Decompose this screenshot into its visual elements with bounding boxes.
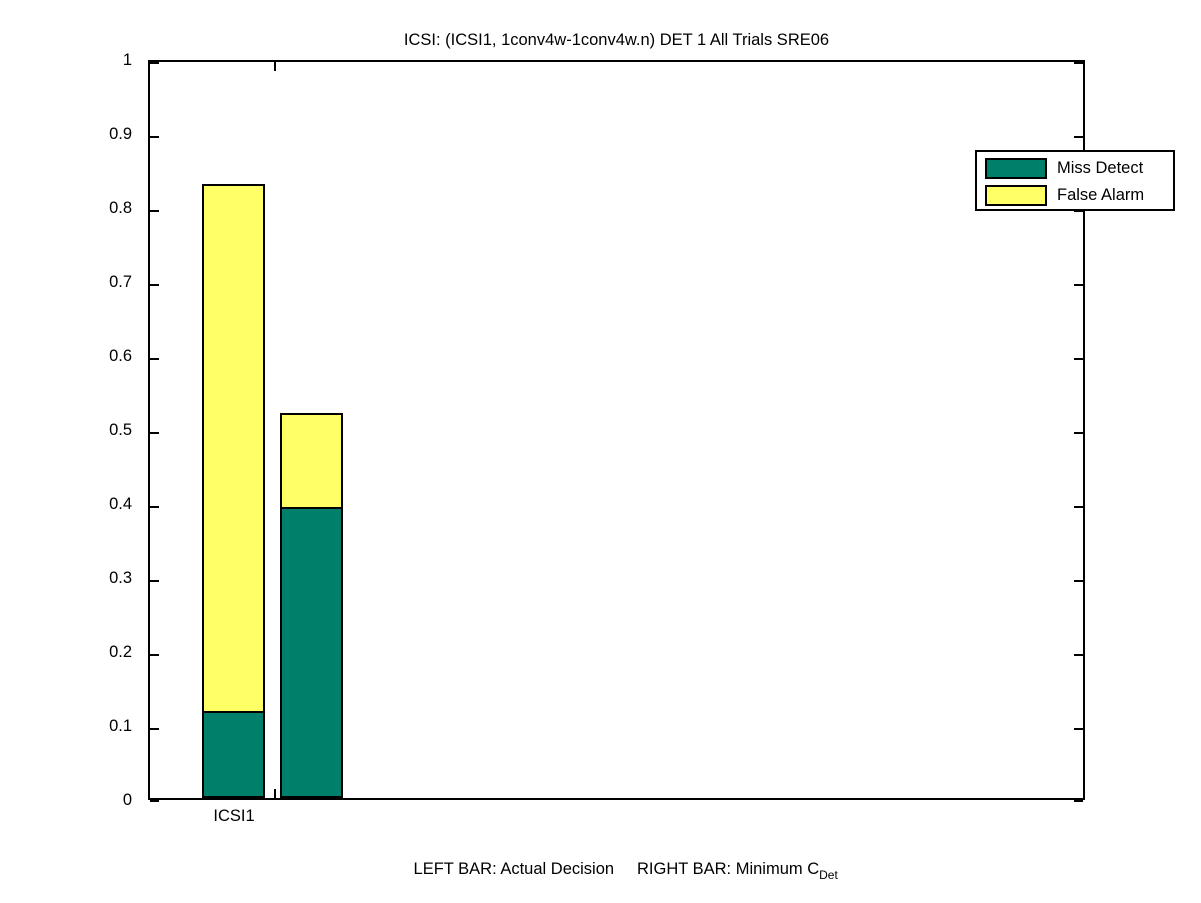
x-axis-caption-gap [614,860,637,878]
y-tick-label: 0.8 [0,200,140,216]
y-tick-mark-right [1074,136,1083,138]
y-tick-label: 0.4 [0,496,140,512]
y-tick-label: 0.6 [0,348,140,364]
legend-swatch-false-alarm [985,185,1047,206]
y-tick-mark [150,284,159,286]
y-tick-label: 0.2 [0,644,140,660]
y-tick-mark [150,800,159,802]
y-tick-label: 0.3 [0,570,140,586]
y-tick-mark-right [1074,728,1083,730]
x-axis-caption: LEFT BAR: Actual Decision RIGHT BAR: Min… [148,836,1085,903]
y-tick-mark [150,728,159,730]
y-tick-mark-right [1074,580,1083,582]
figure-canvas: ICSI: (ICSI1, 1conv4w-1conv4w.n) DET 1 A… [0,0,1201,900]
y-tick-mark [150,432,159,434]
x-axis-caption-subscript: Det [819,868,838,882]
y-tick-mark [150,62,159,64]
y-tick-label: 0.9 [0,126,140,142]
bar-segment-miss-detect-actual [202,711,265,798]
bar-segment-false-alarm-mincdet [280,413,343,509]
y-tick-mark [150,506,159,508]
legend-swatch-miss-detect [985,158,1047,179]
y-tick-mark [150,358,159,360]
y-tick-label: 0.5 [0,422,140,438]
legend-label-false-alarm: False Alarm [1057,183,1144,207]
chart-title: ICSI: (ICSI1, 1conv4w-1conv4w.n) DET 1 A… [148,30,1085,50]
y-tick-label: 0 [0,792,140,808]
y-tick-mark-right [1074,62,1083,64]
y-tick-label: 1 [0,52,140,68]
x-axis-caption-left: LEFT BAR: Actual Decision [414,860,615,878]
x-axis-caption-right: RIGHT BAR: Minimum C [637,860,819,878]
x-axis-labels: ICSI1 [148,806,1085,832]
x-tick-label-icsi1: ICSI1 [213,806,254,826]
y-tick-mark-right [1074,284,1083,286]
y-tick-label: 0.1 [0,718,140,734]
y-tick-mark [150,580,159,582]
plot-area: Miss Detect False Alarm [148,60,1085,800]
x-tick-mark-top [274,62,276,71]
y-tick-mark-right [1074,506,1083,508]
y-tick-mark [150,136,159,138]
legend-label-miss-detect: Miss Detect [1057,156,1143,180]
legend: Miss Detect False Alarm [975,150,1175,211]
y-tick-mark [150,654,159,656]
bar-segment-miss-detect-mincdet [280,507,343,798]
y-tick-mark-right [1074,800,1083,802]
y-tick-label: 0.7 [0,274,140,290]
y-tick-mark-right [1074,358,1083,360]
x-tick-mark [274,789,276,798]
y-tick-mark-right [1074,432,1083,434]
y-axis-labels: 1 0.9 0.8 0.7 0.6 0.5 0.4 0.3 0.2 0.1 0 [0,0,140,900]
y-tick-mark-right [1074,654,1083,656]
y-tick-mark [150,210,159,212]
bar-segment-false-alarm-actual [202,184,265,713]
